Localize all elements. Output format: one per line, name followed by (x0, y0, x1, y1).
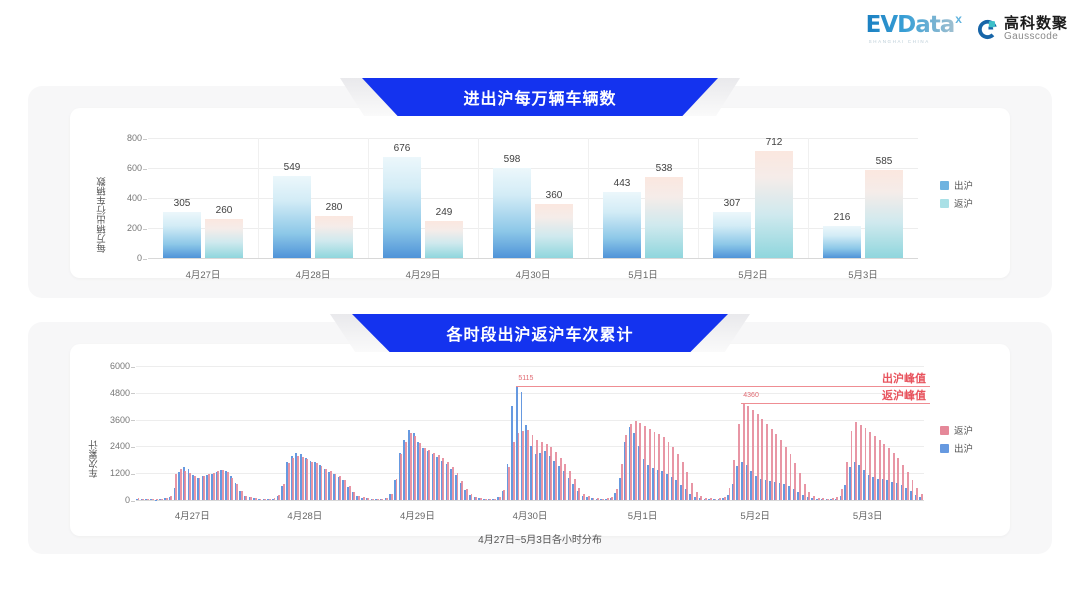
chart2-bar-return[interactable] (879, 440, 881, 500)
chart2-bar-return[interactable] (804, 484, 806, 500)
chart2-bar-return[interactable] (644, 426, 646, 500)
chart2-bar-return[interactable] (156, 499, 158, 500)
chart2-gridline: 4800 (136, 393, 924, 394)
chart1-y-tick-label: 0 (137, 253, 142, 263)
chart2-bar-return[interactable] (916, 488, 918, 500)
chart1-x-tick-label: 4月29日 (406, 267, 441, 281)
chart1-bar-fill (163, 212, 201, 258)
chart2-y-tick-mark (131, 367, 135, 368)
chart1-bar-outbound[interactable]: 307 (713, 212, 751, 258)
chart1-x-tick-label: 4月28日 (296, 267, 331, 281)
chart2-bar-return[interactable] (344, 480, 346, 500)
chart1-legend-swatch (940, 199, 949, 208)
chart1-bar-value: 216 (834, 212, 851, 223)
chart2-bar-return[interactable] (691, 483, 693, 500)
chart2-y-tick-label: 2400 (110, 441, 130, 451)
chart2-bar-return[interactable] (738, 424, 740, 500)
chart2-bar-return[interactable] (321, 466, 323, 500)
chart2-bar-return[interactable] (353, 492, 355, 500)
chart1-gridline: 600 (148, 168, 918, 169)
chart2-bar-return[interactable] (170, 496, 172, 500)
chart1-bar-fill (205, 219, 243, 258)
chart2-bar-return[interactable] (194, 476, 196, 500)
chart2-gridline: 0 (136, 500, 924, 501)
chart2-bar-return[interactable] (269, 499, 271, 500)
chart2-bar-return[interactable] (475, 497, 477, 500)
chart2-bar-return[interactable] (255, 498, 257, 500)
chart2-bar-return[interactable] (822, 498, 824, 500)
chart1-category-separator (808, 138, 809, 258)
chart2-bar-return[interactable] (311, 462, 313, 500)
chart1-legend: 出沪返沪 (940, 178, 973, 214)
chart2-bar-return[interactable] (231, 478, 233, 500)
chart2-bar-return[interactable] (593, 498, 595, 500)
chart1-bar-fill (603, 192, 641, 258)
chart2-bar-return[interactable] (560, 458, 562, 500)
chart2-bar-return[interactable] (419, 443, 421, 500)
chart2-bar-return[interactable] (813, 496, 815, 500)
chart2-bar-return[interactable] (283, 484, 285, 500)
chart2-bar-return[interactable] (550, 447, 552, 500)
chart1-bar-fill (713, 212, 751, 258)
chart2-bar-return[interactable] (869, 432, 871, 500)
chart1-category-separator (258, 138, 259, 258)
chart1-title-ribbon: 进出沪每万辆车辆数 (340, 78, 740, 116)
chart2-bar-return[interactable] (893, 453, 895, 500)
chart1-bar-fill (865, 170, 903, 258)
chart1-legend-label: 出沪 (954, 178, 973, 192)
chart1-bar-value: 538 (656, 163, 673, 174)
chart2-bar-return[interactable] (461, 481, 463, 500)
chart2-x-tick-label: 5月2日 (740, 508, 770, 522)
chart2-bar-return[interactable] (654, 432, 656, 500)
chart2-bar-return[interactable] (855, 422, 857, 500)
chart2-bar-return[interactable] (729, 488, 731, 500)
chart2-bar-return[interactable] (574, 479, 576, 500)
chart2-bar-return[interactable] (532, 435, 534, 500)
chart2-title-ribbon: 各时段出沪返沪车次累计 (330, 314, 750, 352)
chart2-legend-label: 出沪 (954, 441, 973, 455)
evdata-logo-text: EVData (866, 14, 955, 37)
chart2-legend-label: 返沪 (954, 423, 973, 437)
gausscode-logo: 高科数聚 Gausscode (976, 16, 1068, 42)
chart1-x-tick-label: 5月2日 (738, 267, 768, 281)
chart2-peak-value: 4360 (743, 392, 759, 399)
chart1-plot-area: 02004006008003052604月27日5492804月28日67624… (148, 138, 918, 258)
chart2-bar-return[interactable] (386, 498, 388, 500)
chart2-bar-return[interactable] (569, 471, 571, 500)
chart2-bar-return[interactable] (841, 489, 843, 500)
chart2-legend-item[interactable]: 出沪 (940, 441, 973, 455)
chart2-bar-return[interactable] (818, 498, 820, 500)
chart2-bar-return[interactable] (494, 499, 496, 500)
chart2-bar-return[interactable] (306, 459, 308, 500)
chart2-gridline: 3600 (136, 420, 924, 421)
gausscode-logo-text: 高科数聚 Gausscode (1004, 16, 1068, 42)
chart2-bar-return[interactable] (260, 499, 262, 500)
chart1-bar-outbound[interactable]: 598 (493, 168, 531, 258)
chart2-bar-return[interactable] (264, 499, 266, 500)
chart1-y-tick-label: 200 (127, 223, 142, 233)
chart1-y-tick-label: 800 (127, 133, 142, 143)
chart2-bar-return[interactable] (499, 497, 501, 500)
chart2-bar-return[interactable] (302, 457, 304, 500)
gausscode-en-name: Gausscode (1004, 32, 1068, 43)
chart1-bar-return[interactable]: 712 (755, 151, 793, 258)
chart2-bar-return[interactable] (278, 495, 280, 500)
chart2-bar-return[interactable] (325, 469, 327, 500)
chart2-bar-return[interactable] (485, 499, 487, 500)
chart2-bar-return[interactable] (921, 494, 923, 500)
chart2-bar-return[interactable] (377, 499, 379, 500)
chart2-bar-return[interactable] (536, 440, 538, 500)
chart1-bar-fill (755, 151, 793, 258)
chart2-bar-return[interactable] (372, 499, 374, 500)
chart2-bar-return[interactable] (330, 471, 332, 500)
chart2-bar-return[interactable] (349, 486, 351, 500)
chart1-bar-fill (493, 168, 531, 258)
chart2-bar-return[interactable] (761, 419, 763, 500)
chart2-bar-return[interactable] (663, 437, 665, 500)
chart2-bar-return[interactable] (766, 424, 768, 500)
chart2-bar-return[interactable] (846, 462, 848, 500)
chart2-peak-label: 返沪峰值 (882, 387, 926, 403)
chart2-bar-return[interactable] (316, 463, 318, 500)
ribbon-body: 各时段出沪返沪车次累计 (352, 314, 728, 352)
chart2-bar-return[interactable] (405, 442, 407, 500)
chart2-bar-return[interactable] (457, 473, 459, 500)
chart1-category-separator (478, 138, 479, 258)
chart2-bar-return[interactable] (541, 442, 543, 500)
chart2-bar-return[interactable] (625, 435, 627, 500)
chart1-y-tick-mark (143, 199, 147, 200)
chart1-bar-return[interactable]: 360 (535, 204, 573, 258)
chart2-bar-return[interactable] (236, 484, 238, 500)
chart2-bar-return[interactable] (639, 423, 641, 500)
chart2-bar-return[interactable] (447, 462, 449, 500)
chart1-legend-item[interactable]: 返沪 (940, 196, 973, 210)
chart2-x-tick-label: 4月28日 (287, 508, 322, 522)
chart1-bar-value: 305 (174, 198, 191, 209)
chart1-bar-value: 676 (394, 143, 411, 154)
chart2-bar-return[interactable] (138, 498, 140, 500)
chart2-y-tick-mark (131, 474, 135, 475)
chart2-bar-return[interactable] (902, 465, 904, 500)
chart2-bar-return[interactable] (546, 444, 548, 500)
chart2-bar-return[interactable] (668, 442, 670, 501)
chart2-bar-return[interactable] (480, 498, 482, 500)
chart2-bar-return[interactable] (775, 434, 777, 500)
chart2-bar-return[interactable] (222, 470, 224, 500)
chart2-bar-return[interactable] (611, 497, 613, 500)
chart2-y-tick-label: 6000 (110, 361, 130, 371)
evdata-logo-main: EVData x (866, 14, 962, 37)
chart1-y-tick-label: 400 (127, 193, 142, 203)
chart1-bar-fill (425, 221, 463, 258)
chart1-bar-fill (383, 157, 421, 258)
chart2-y-tick-mark (131, 393, 135, 394)
chart2-bar-return[interactable] (719, 498, 721, 500)
chart2-bar-return[interactable] (888, 448, 890, 500)
chart2-bar-return[interactable] (335, 474, 337, 500)
chart2-bar-return[interactable] (658, 434, 660, 500)
chart2-y-tick-mark (131, 501, 135, 502)
chart2-bar-return[interactable] (245, 496, 247, 500)
chart1-bar-fill (823, 226, 861, 258)
chart2-bar-return[interactable] (710, 498, 712, 500)
chart1-bar-value: 443 (614, 178, 631, 189)
chart2-bar-return[interactable] (752, 410, 754, 500)
chart1-bar-return[interactable]: 249 (425, 221, 463, 258)
chart2-bar-return[interactable] (715, 499, 717, 500)
chart2-bar-return[interactable] (166, 498, 168, 500)
chart2-bar-return[interactable] (391, 494, 393, 500)
chart1-bar-value: 598 (504, 154, 521, 165)
chart2-bar-return[interactable] (274, 498, 276, 500)
chart1-y-tick-mark (143, 169, 147, 170)
chart2-peak-line (741, 403, 930, 404)
chart2-bar-return[interactable] (208, 474, 210, 500)
chart2-bar-return[interactable] (527, 430, 529, 500)
chart2-bar-return[interactable] (705, 498, 707, 500)
chart2-bar-return[interactable] (649, 429, 651, 500)
chart1-gridline: 0 (148, 258, 918, 259)
chart2-plot-area: 0120024003600480060005115出沪峰值4360返沪峰值4月2… (136, 366, 924, 500)
chart2-bar-return[interactable] (686, 472, 688, 500)
chart2-bar-return[interactable] (147, 499, 149, 500)
chart1-bar-value: 249 (436, 207, 453, 218)
chart2-bar-return[interactable] (400, 454, 402, 500)
chart2-bar-return[interactable] (851, 431, 853, 500)
chart1-category-separator (698, 138, 699, 258)
chart1-y-tick-label: 600 (127, 163, 142, 173)
chart1-bar-fill (315, 216, 353, 258)
chart1-y-tick-mark (143, 139, 147, 140)
chart1-bar-return[interactable]: 538 (645, 177, 683, 258)
gausscode-cn-name: 高科数聚 (1004, 16, 1068, 32)
chart2-legend-item[interactable]: 返沪 (940, 423, 973, 437)
chart2-bar-return[interactable] (832, 498, 834, 500)
chart2-bar-return[interactable] (410, 433, 412, 500)
chart1-bar-return[interactable]: 280 (315, 216, 353, 258)
chart1-legend-swatch (940, 181, 949, 190)
chart2-bar-return[interactable] (794, 463, 796, 500)
chart2-bar-return[interactable] (292, 458, 294, 500)
chart2-bar-return[interactable] (597, 498, 599, 500)
chart1-bar-fill (535, 204, 573, 258)
chart2-bar-return[interactable] (860, 425, 862, 500)
chart1-bar-return[interactable]: 585 (865, 170, 903, 258)
chart2-x-tick-label: 4月27日 (175, 508, 210, 522)
chart2-bar-return[interactable] (452, 467, 454, 500)
evdata-x-icon: x (955, 12, 962, 26)
chart2-y-tick-label: 3600 (110, 415, 130, 425)
chart2-bar-return[interactable] (217, 471, 219, 500)
chart2-bar-return[interactable] (907, 472, 909, 500)
chart2-bar-return[interactable] (733, 460, 735, 500)
chart1-bar-value: 549 (284, 162, 301, 173)
chart1-bar-value: 585 (876, 156, 893, 167)
chart2-x-tick-label: 4月30日 (513, 508, 548, 522)
chart2-bar-return[interactable] (790, 454, 792, 500)
chart1-gridline: 800 (148, 138, 918, 139)
chart1-bar-return[interactable]: 260 (205, 219, 243, 258)
chart2-bar-return[interactable] (677, 454, 679, 500)
chart2-bar-return[interactable] (396, 479, 398, 500)
chart2-bar-return[interactable] (635, 421, 637, 500)
chart1-bar-outbound[interactable]: 676 (383, 157, 421, 258)
chart1-bar-value: 360 (546, 190, 563, 201)
chart2-bar-return[interactable] (503, 490, 505, 500)
chart2-x-tick-label: 4月29日 (400, 508, 435, 522)
chart2-peak-line (516, 386, 930, 387)
chart2-bar-return[interactable] (616, 489, 618, 500)
chart2-bar-return[interactable] (630, 424, 632, 500)
chart2-y-tick-mark (131, 420, 135, 421)
chart2-bar-return[interactable] (508, 467, 510, 501)
chart2-x-axis-caption: 4月27日~5月3日各小时分布 (0, 531, 1080, 546)
chart2-bar-return[interactable] (433, 453, 435, 500)
chart2-bar-return[interactable] (489, 499, 491, 500)
chart2-legend-swatch (940, 444, 949, 453)
chart2-y-axis-title: 车次累计 (88, 398, 102, 478)
chart1-legend-label: 返沪 (954, 196, 973, 210)
chart1-bar-outbound[interactable]: 216 (823, 226, 861, 258)
chart2-bar-return[interactable] (152, 499, 154, 500)
chart2-bar-return[interactable] (672, 447, 674, 500)
chart2-y-tick-label: 0 (125, 495, 130, 505)
chart2-y-tick-label: 1200 (110, 468, 130, 478)
chart2-bar-return[interactable] (700, 496, 702, 500)
chart2-bar-return[interactable] (203, 476, 205, 500)
chart2-bar-return[interactable] (161, 499, 163, 500)
chart1-bar-fill (273, 176, 311, 258)
chart1-bar-outbound[interactable]: 443 (603, 192, 641, 258)
chart2-bar-return[interactable] (180, 469, 182, 500)
chart2-bar-return[interactable] (897, 458, 899, 500)
chart2-bar-return[interactable] (743, 403, 745, 500)
ribbon-body: 进出沪每万辆车辆数 (362, 78, 718, 116)
chart2-bar-return[interactable] (865, 428, 867, 500)
chart2-bar-return[interactable] (583, 494, 585, 500)
chart1-y-tick-mark (143, 229, 147, 230)
chart2-bar-return[interactable] (339, 476, 341, 500)
chart2-bar-return[interactable] (522, 431, 524, 500)
chart2-bar-return[interactable] (696, 492, 698, 500)
chart2-bar-return[interactable] (883, 444, 885, 500)
chart2-bar-return[interactable] (142, 499, 144, 500)
chart2-bar-return[interactable] (808, 492, 810, 500)
chart2-bar-return[interactable] (250, 497, 252, 500)
chart2-bar-return[interactable] (288, 463, 290, 500)
chart2-bar-return[interactable] (175, 474, 177, 500)
evdata-logo: EVData x SHANGHAI CHINA (866, 14, 962, 44)
chart2-bar-return[interactable] (588, 496, 590, 500)
chart2-bar-return[interactable] (442, 458, 444, 500)
chart1-category-separator (588, 138, 589, 258)
chart2-bar-return[interactable] (518, 433, 520, 500)
chart2-bar-return[interactable] (367, 498, 369, 500)
chart1-title: 进出沪每万辆车辆数 (463, 85, 616, 109)
chart1-gridline: 400 (148, 198, 918, 199)
chart2-bar-return[interactable] (757, 414, 759, 500)
chart2-bar-return[interactable] (724, 497, 726, 500)
chart2-legend-swatch (940, 426, 949, 435)
chart2-bar-return[interactable] (827, 499, 829, 500)
chart2-bar-return[interactable] (682, 462, 684, 500)
chart1-y-axis-title: 每万辆出行车辆数 (96, 145, 110, 253)
chart2-bar-return[interactable] (602, 499, 604, 500)
chart2-bar-return[interactable] (578, 488, 580, 500)
chart2-bar-return[interactable] (428, 450, 430, 500)
chart1-x-tick-label: 5月3日 (848, 267, 878, 281)
chart2-bar-return[interactable] (513, 442, 515, 500)
chart2-bar-return[interactable] (381, 499, 383, 500)
chart2-bar-return[interactable] (836, 497, 838, 500)
chart2-bar-return[interactable] (555, 452, 557, 500)
chart1-bar-value: 712 (766, 137, 783, 148)
chart1-x-tick-label: 5月1日 (628, 267, 658, 281)
chart2-bar-return[interactable] (358, 496, 360, 500)
chart2-bar-return[interactable] (621, 464, 623, 500)
chart2-bar-return[interactable] (771, 429, 773, 500)
chart2-peak-value: 5115 (518, 375, 533, 382)
chart2-gridline: 6000 (136, 366, 924, 367)
evdata-logo-subtitle: SHANGHAI CHINA (869, 39, 930, 44)
chart2-bar-return[interactable] (466, 489, 468, 500)
chart1-bar-outbound[interactable]: 549 (273, 176, 311, 258)
chart1-bar-value: 260 (216, 205, 233, 216)
header-logos: EVData x SHANGHAI CHINA 高科数聚 Gausscode (866, 14, 1068, 44)
chart2-bar-return[interactable] (227, 472, 229, 500)
chart1-bar-fill (645, 177, 683, 258)
chart1-bar-outbound[interactable]: 305 (163, 212, 201, 258)
chart2-bar-return[interactable] (213, 473, 215, 500)
chart2-bar-return[interactable] (363, 497, 365, 500)
chart2-x-tick-label: 5月1日 (628, 508, 658, 522)
chart2-bar-return[interactable] (747, 406, 749, 500)
gausscode-mark-icon (976, 18, 999, 41)
chart2-bar-return[interactable] (438, 455, 440, 500)
chart2-bar-return[interactable] (199, 478, 201, 500)
chart1-gridline: 200 (148, 228, 918, 229)
chart2-bar-return[interactable] (297, 456, 299, 500)
chart2-bar-return[interactable] (184, 471, 186, 500)
chart2-bar-return[interactable] (607, 498, 609, 500)
chart2-bar-return[interactable] (189, 473, 191, 500)
chart2-bar-return[interactable] (785, 447, 787, 500)
chart2-y-tick-mark (131, 447, 135, 448)
chart2-bar-return[interactable] (414, 436, 416, 500)
chart2-peak-label: 出沪峰值 (882, 370, 926, 386)
chart2-bar-return[interactable] (424, 448, 426, 500)
chart2-y-tick-label: 4800 (110, 388, 130, 398)
chart2-bar-return[interactable] (799, 473, 801, 500)
chart2-bar-return[interactable] (874, 436, 876, 500)
chart2-bar-return[interactable] (241, 491, 243, 500)
chart2-bar-return[interactable] (471, 494, 473, 500)
chart2-title: 各时段出沪返沪车次累计 (446, 321, 633, 345)
chart1-category-separator (368, 138, 369, 258)
chart1-x-tick-label: 4月27日 (186, 267, 221, 281)
chart2-bar-return[interactable] (564, 464, 566, 500)
chart2-bar-return[interactable] (780, 440, 782, 500)
chart1-legend-item[interactable]: 出沪 (940, 178, 973, 192)
chart1-x-tick-label: 4月30日 (516, 267, 551, 281)
chart2-legend: 返沪出沪 (940, 423, 973, 459)
chart2-bar-return[interactable] (912, 480, 914, 500)
chart1-bar-value: 307 (724, 198, 741, 209)
